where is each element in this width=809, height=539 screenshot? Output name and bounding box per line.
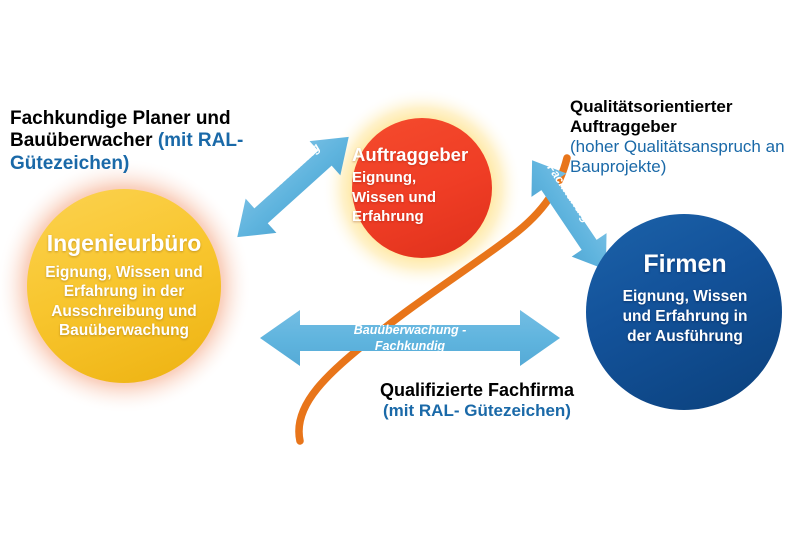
caption-qualifizierte-fachfirma: Qualifizierte Fachfirma (mit RAL- Güteze… xyxy=(352,380,602,421)
caption-qualitaet-line3: (hoher Qualitätsanspruch an xyxy=(570,137,809,157)
diagram-graphics xyxy=(0,0,809,539)
node-circle-ingenieurbuero[interactable] xyxy=(27,189,221,383)
caption-qualitaet-line4: Bauprojekte) xyxy=(570,157,809,177)
caption-planer-guetezeichen: Gütezeichen) xyxy=(10,153,300,175)
arrow-bottom-bidirectional xyxy=(260,310,560,366)
caption-planer-ral-open: (mit RAL- xyxy=(158,130,243,151)
caption-qualitaetsorientierter-auftraggeber: Qualitätsorientierter Auftraggeber (hohe… xyxy=(570,97,809,177)
caption-fachfirma-line1: Qualifizierte Fachfirma xyxy=(352,380,602,401)
node-circle-auftraggeber[interactable] xyxy=(352,118,492,258)
caption-planer-line1: Fachkundige Planer und xyxy=(10,108,300,130)
caption-fachfirma-line2: (mit RAL- Gütezeichen) xyxy=(352,401,602,421)
caption-planer-line2: Bauüberwacher (mit RAL- xyxy=(10,130,300,152)
caption-fachkundige-planer: Fachkundige Planer und Bauüberwacher (mi… xyxy=(10,108,300,175)
node-circle-firmen[interactable] xyxy=(586,214,782,410)
caption-planer-bauueberwacher: Bauüberwacher xyxy=(10,130,158,151)
diagram-canvas: Ingenieurbüro Eignung, Wissen undErfahru… xyxy=(0,0,809,539)
caption-qualitaet-line2: Auftraggeber xyxy=(570,117,809,137)
caption-qualitaet-line1: Qualitätsorientierter xyxy=(570,97,809,117)
